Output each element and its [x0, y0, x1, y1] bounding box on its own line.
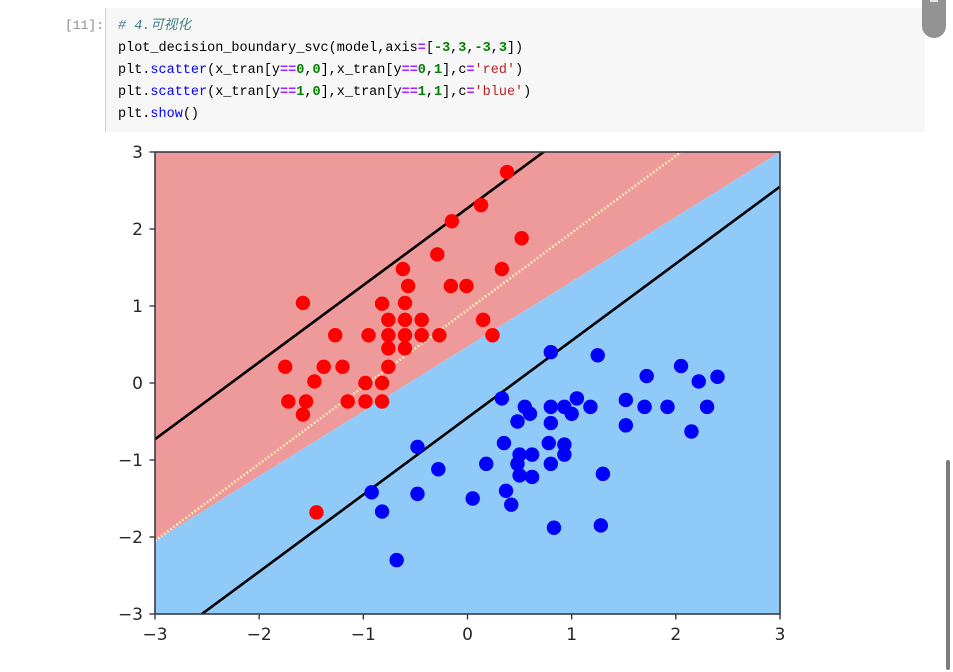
scatter-point: [544, 457, 558, 471]
scatter-point: [557, 447, 571, 461]
code-line-4: plt.scatter(x_tran[y==1,0],x_tran[y==1,1…: [118, 82, 925, 104]
token-num: 1: [418, 85, 426, 100]
notebook-page: [11]: # 4.可视化plot_decision_boundary_svc(…: [0, 0, 953, 672]
token-plain: ,: [426, 63, 434, 78]
scatter-point: [466, 491, 480, 505]
token-plain: ,: [491, 41, 499, 56]
scatter-point: [307, 374, 321, 388]
axes-content: [155, 138, 780, 649]
code-line-2: plot_decision_boundary_svc(model,axis=[-…: [118, 38, 925, 60]
scatter-point: [459, 279, 473, 293]
scatter-point: [375, 376, 389, 390]
scatter-point: [296, 296, 310, 310]
scatter-point: [430, 247, 444, 261]
token-plain: ],x_tran[y: [321, 63, 402, 78]
x-tick-label: 3: [775, 625, 786, 645]
scatter-point: [500, 165, 514, 179]
token-op: ==: [280, 85, 296, 100]
scatter-point: [375, 394, 389, 408]
scatter-point: [431, 462, 445, 476]
token-num: 3: [499, 41, 507, 56]
token-fn: show: [150, 107, 182, 122]
scatter-point: [523, 407, 537, 421]
execution-count-label: [11]:: [36, 18, 104, 33]
token-num: -3: [434, 41, 450, 56]
token-num: 1: [434, 63, 442, 78]
scatter-point: [358, 376, 372, 390]
token-plain: ,: [466, 41, 474, 56]
scatter-point: [375, 504, 389, 518]
scatter-point: [583, 400, 597, 414]
scatter-point: [700, 400, 714, 414]
scatter-point: [544, 416, 558, 430]
scatter-point: [396, 262, 410, 276]
scatter-point: [381, 360, 395, 374]
scatter-point: [594, 518, 608, 532]
scatter-point: [328, 328, 342, 342]
x-tick-label: 2: [670, 625, 681, 645]
scatter-point: [398, 328, 412, 342]
scatter-point: [497, 436, 511, 450]
token-plain: ,: [426, 85, 434, 100]
token-plain: ]): [507, 41, 523, 56]
token-str: 'blue': [475, 85, 524, 100]
scatter-point: [281, 394, 295, 408]
y-tick-label: 1: [132, 297, 143, 317]
scatter-point: [398, 341, 412, 355]
scatter-point: [410, 487, 424, 501]
token-plain: ): [515, 63, 523, 78]
scatter-point: [381, 313, 395, 327]
scatter-point: [432, 328, 446, 342]
scatter-point: [510, 414, 524, 428]
token-plain: ],x_tran[y: [321, 85, 402, 100]
token-plain: ],c: [442, 85, 466, 100]
scatter-point: [525, 470, 539, 484]
token-str: 'red': [475, 63, 516, 78]
token-op: =: [466, 85, 474, 100]
x-tick-label: −2: [247, 625, 272, 645]
scatter-point: [564, 407, 578, 421]
scatter-point: [445, 214, 459, 228]
token-num: 0: [312, 63, 320, 78]
token-plain: [: [426, 41, 434, 56]
scatter-point: [660, 400, 674, 414]
scatter-point: [684, 424, 698, 438]
scatter-point: [495, 262, 509, 276]
token-num: -3: [475, 41, 491, 56]
scatter-point: [341, 394, 355, 408]
token-plain: plt.: [118, 85, 150, 100]
x-tick-label: 0: [462, 625, 473, 645]
x-tick-label: 1: [566, 625, 577, 645]
code-editor[interactable]: # 4.可视化plot_decision_boundary_svc(model,…: [105, 8, 925, 132]
scatter-point: [398, 296, 412, 310]
scatter-point: [444, 279, 458, 293]
scatter-point: [591, 348, 605, 362]
scatter-point: [414, 328, 428, 342]
x-tick-label: −1: [351, 625, 376, 645]
scatter-point: [499, 484, 513, 498]
y-tick-label: 0: [132, 374, 143, 394]
token-plain: ],c: [442, 63, 466, 78]
scatter-point: [495, 391, 509, 405]
scatter-point: [637, 400, 651, 414]
y-tick-label: −1: [118, 451, 143, 471]
token-num: 0: [418, 63, 426, 78]
scatter-point: [414, 313, 428, 327]
token-plain: plt.: [118, 107, 150, 122]
page-scrollbar[interactable]: [946, 460, 950, 670]
token-op: =: [466, 63, 474, 78]
y-tick-label: −2: [118, 528, 143, 548]
scatter-point: [381, 328, 395, 342]
token-op: ==: [280, 63, 296, 78]
code-cell-container: [11]: # 4.可视化plot_decision_boundary_svc(…: [0, 0, 953, 140]
scatter-point: [692, 374, 706, 388]
code-line-5: plt.show(): [118, 104, 925, 126]
scatter-point: [398, 313, 412, 327]
scatter-point: [335, 360, 349, 374]
scatter-point: [278, 360, 292, 374]
scatter-point: [479, 457, 493, 471]
scatter-point: [544, 345, 558, 359]
scatter-point: [485, 328, 499, 342]
scatter-point: [639, 369, 653, 383]
scatter-point: [299, 394, 313, 408]
scatter-point: [364, 485, 378, 499]
scatter-point: [375, 296, 389, 310]
scatter-point: [542, 436, 556, 450]
vertical-scrollbar-thumb[interactable]: [922, 0, 946, 38]
token-plain: (x_tran[y: [207, 85, 280, 100]
scatter-point: [358, 394, 372, 408]
scatter-point: [596, 467, 610, 481]
token-plain: (x_tran[y: [207, 63, 280, 78]
token-plain: ): [523, 85, 531, 100]
scatter-point: [619, 393, 633, 407]
y-tick-label: 2: [132, 220, 143, 240]
scatter-point: [317, 360, 331, 374]
token-op: =: [418, 41, 426, 56]
token-op: ==: [402, 63, 418, 78]
x-tick-label: −3: [142, 625, 167, 645]
scatter-point: [476, 313, 490, 327]
token-num: 1: [434, 85, 442, 100]
token-plain: (): [183, 107, 199, 122]
scatter-point: [674, 359, 688, 373]
scatter-point: [710, 370, 724, 384]
code-line-3: plt.scatter(x_tran[y==0,0],x_tran[y==0,1…: [118, 60, 925, 82]
scatter-point: [514, 231, 528, 245]
scatter-point: [512, 468, 526, 482]
scatter-point: [296, 407, 310, 421]
scatter-point: [309, 505, 323, 519]
scatter-point: [525, 447, 539, 461]
scatter-point: [361, 328, 375, 342]
token-fn: scatter: [150, 85, 207, 100]
svc-decision-boundary-chart: −3−2−10123−3−2−10123: [0, 138, 860, 672]
scatter-point: [619, 418, 633, 432]
scatter-point: [381, 341, 395, 355]
token-op: ==: [402, 85, 418, 100]
scatter-point: [504, 497, 518, 511]
scatter-point: [474, 198, 488, 212]
scatter-point: [401, 279, 415, 293]
scatter-point: [544, 400, 558, 414]
token-plain: plot_decision_boundary_svc(model,axis: [118, 41, 418, 56]
scatter-point: [410, 440, 424, 454]
y-tick-label: −3: [118, 605, 143, 625]
token-num: 0: [312, 85, 320, 100]
scatter-point: [389, 553, 403, 567]
token-comment: # 4.可视化: [118, 19, 191, 34]
plot-output: −3−2−10123−3−2−10123: [0, 138, 860, 672]
scatter-point: [570, 391, 584, 405]
scatter-point: [547, 521, 561, 535]
code-line-1: # 4.可视化: [118, 16, 925, 38]
token-fn: scatter: [150, 63, 207, 78]
y-tick-label: 3: [132, 143, 143, 163]
token-plain: plt.: [118, 63, 150, 78]
